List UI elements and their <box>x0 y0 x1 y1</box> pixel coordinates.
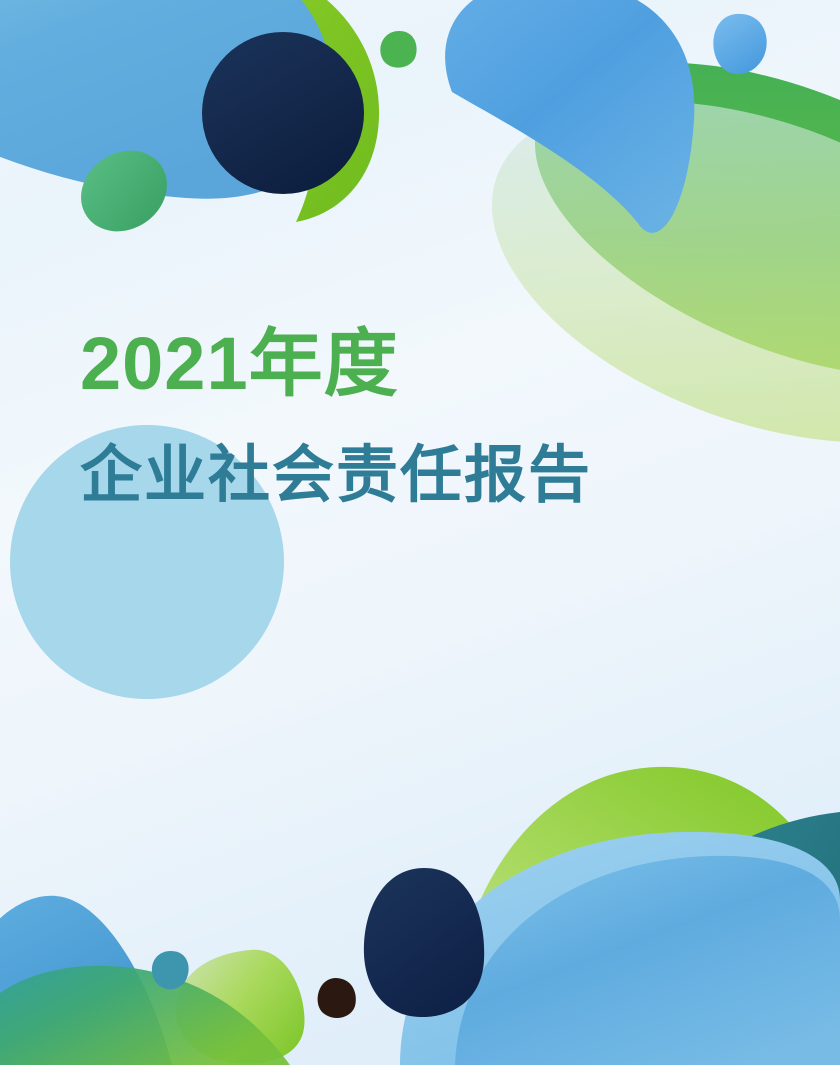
shape-navy-circle-top <box>202 32 364 194</box>
report-cover-page: 2021年度 企业社会责任报告 <box>0 0 840 1065</box>
shape-brown-dot-bottom <box>318 978 356 1018</box>
shape-blue-pebble-top-right <box>713 14 766 74</box>
decorative-background-artwork <box>0 0 840 1065</box>
cover-year-heading: 2021年度 <box>80 325 720 403</box>
shape-teal-pebble-bottom <box>152 951 189 989</box>
shape-navy-egg-bottom <box>364 868 484 1017</box>
cover-main-title: 企业社会责任报告 <box>80 443 720 508</box>
shape-green-pebble-top <box>380 31 416 68</box>
cover-title-block: 2021年度 企业社会责任报告 <box>80 325 720 508</box>
